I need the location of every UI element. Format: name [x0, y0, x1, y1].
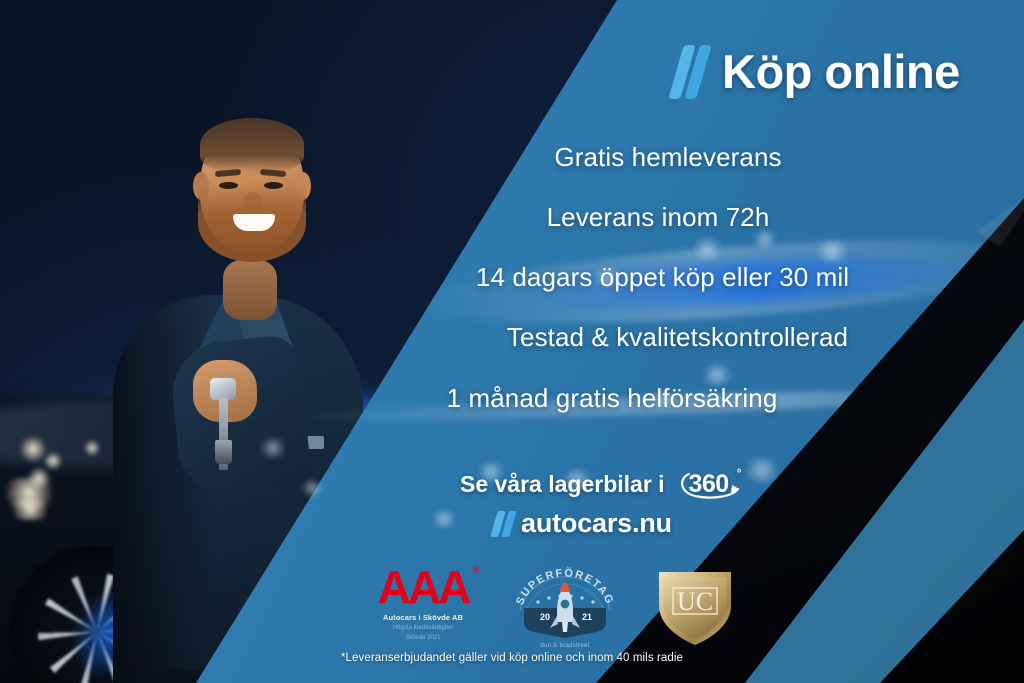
uc-shield-badge: UC — [650, 562, 740, 650]
disclaimer-text: *Leveranserbjudandet gäller vid köp onli… — [0, 652, 1024, 664]
trust-badges: AAA ® Autocars i Skövde AB Högsta kredit… — [350, 556, 770, 651]
ad-content: Köp online Gratis hemleverans Leverans i… — [0, 0, 1024, 683]
cta-text: Se våra lagerbilar i — [460, 471, 665, 498]
cta-line-1: Se våra lagerbilar i 360 ° — [460, 465, 743, 503]
aaa-company-name: Autocars i Skövde AB — [358, 613, 488, 622]
benefit-item: Gratis hemleverans — [418, 142, 918, 173]
cta-line-2[interactable]: autocars.nu — [494, 508, 743, 539]
registered-trademark-icon: ® — [473, 566, 480, 575]
superforetag-badge: SUPERFÖRETAG 20 21 — [510, 556, 620, 651]
degree-symbol: ° — [737, 466, 742, 480]
aaa-credit-badge: AAA ® Autocars i Skövde AB Högsta kredit… — [358, 564, 488, 642]
svg-text:21: 21 — [582, 612, 592, 622]
360-view-icon: 360 ° — [675, 465, 743, 503]
superforetag-source: dun & bradstreet — [510, 643, 620, 649]
svg-text:UC: UC — [677, 587, 713, 616]
page-title: Köp online — [722, 44, 960, 99]
call-to-action[interactable]: Se våra lagerbilar i 360 ° autocars.nu — [460, 465, 743, 539]
website-url[interactable]: autocars.nu — [521, 508, 672, 539]
headline-row: Köp online — [676, 44, 960, 99]
advertisement-banner: Köp online Gratis hemleverans Leverans i… — [0, 0, 1024, 683]
benefit-item: Testad & kvalitetskontrollerad — [400, 322, 955, 353]
benefit-item: 14 dagars öppet köp eller 30 mil — [385, 262, 940, 293]
double-slash-small-icon — [494, 511, 513, 537]
aaa-rating-line: Högsta kreditvärdighet — [358, 624, 488, 632]
aaa-logo-mark: AAA ® — [378, 564, 469, 610]
double-slash-logo-icon — [676, 45, 704, 99]
benefit-item: 1 månad gratis helförsäkring — [362, 383, 862, 414]
svg-text:20: 20 — [540, 612, 550, 622]
aaa-letters: AAA — [378, 561, 469, 613]
aaa-location-year: Skövde 2021 — [358, 634, 488, 642]
benefit-item: Leverans inom 72h — [408, 202, 908, 233]
360-number: 360 — [688, 470, 728, 499]
